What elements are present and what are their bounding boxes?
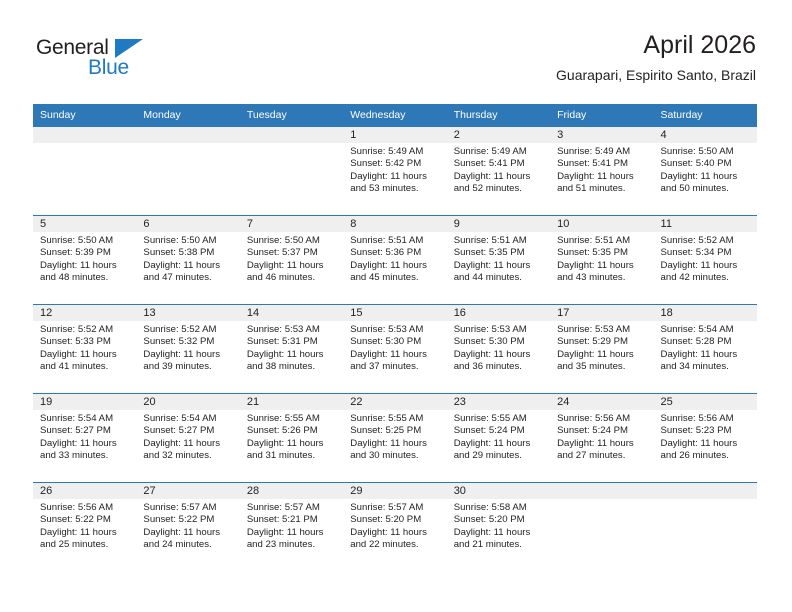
sunset-text: Sunset: 5:26 PM (247, 425, 337, 437)
calendar-day-cell[interactable]: 21Sunrise: 5:55 AMSunset: 5:26 PMDayligh… (240, 394, 343, 483)
calendar-week-row: 5Sunrise: 5:50 AMSunset: 5:39 PMDaylight… (33, 216, 757, 305)
daylight-text-line1: Daylight: 11 hours (454, 171, 544, 183)
weekday-header-wednesday: Wednesday (343, 104, 446, 127)
day-number (550, 483, 653, 499)
sunrise-text: Sunrise: 5:56 AM (557, 413, 647, 425)
daylight-text-line1: Daylight: 11 hours (350, 349, 440, 361)
sunrise-text: Sunrise: 5:56 AM (661, 413, 751, 425)
day-number (136, 127, 239, 143)
daylight-text-line2: and 53 minutes. (350, 183, 440, 195)
sunrise-text: Sunrise: 5:50 AM (661, 146, 751, 158)
sunrise-text: Sunrise: 5:53 AM (247, 324, 337, 336)
calendar-day-cell[interactable]: 20Sunrise: 5:54 AMSunset: 5:27 PMDayligh… (136, 394, 239, 483)
daylight-text-line1: Daylight: 11 hours (661, 260, 751, 272)
calendar-day-cell-empty (550, 483, 653, 572)
calendar-day-cell[interactable]: 12Sunrise: 5:52 AMSunset: 5:33 PMDayligh… (33, 305, 136, 394)
daylight-text-line1: Daylight: 11 hours (40, 527, 130, 539)
day-number: 7 (240, 216, 343, 232)
sunrise-text: Sunrise: 5:49 AM (557, 146, 647, 158)
daylight-text-line1: Daylight: 11 hours (40, 438, 130, 450)
daylight-text-line1: Daylight: 11 hours (350, 438, 440, 450)
day-number: 16 (447, 305, 550, 321)
sunrise-text: Sunrise: 5:52 AM (661, 235, 751, 247)
sunset-text: Sunset: 5:21 PM (247, 514, 337, 526)
sunrise-text: Sunrise: 5:51 AM (350, 235, 440, 247)
daylight-text-line1: Daylight: 11 hours (350, 260, 440, 272)
daylight-text-line1: Daylight: 11 hours (247, 349, 337, 361)
page-header: General Blue April 2026 Guarapari, Espir… (0, 0, 792, 100)
calendar-day-cell[interactable]: 25Sunrise: 5:56 AMSunset: 5:23 PMDayligh… (654, 394, 757, 483)
day-details: Sunrise: 5:50 AMSunset: 5:39 PMDaylight:… (33, 232, 136, 285)
sunset-text: Sunset: 5:39 PM (40, 247, 130, 259)
calendar-day-cell[interactable]: 2Sunrise: 5:49 AMSunset: 5:41 PMDaylight… (447, 127, 550, 216)
calendar-day-cell[interactable]: 8Sunrise: 5:51 AMSunset: 5:36 PMDaylight… (343, 216, 446, 305)
sunrise-text: Sunrise: 5:56 AM (40, 502, 130, 514)
day-number: 24 (550, 394, 653, 410)
daylight-text-line2: and 22 minutes. (350, 539, 440, 551)
day-number: 18 (654, 305, 757, 321)
sunset-text: Sunset: 5:42 PM (350, 158, 440, 170)
sunset-text: Sunset: 5:38 PM (143, 247, 233, 259)
day-details: Sunrise: 5:49 AMSunset: 5:42 PMDaylight:… (343, 143, 446, 196)
day-number: 3 (550, 127, 653, 143)
day-details: Sunrise: 5:51 AMSunset: 5:36 PMDaylight:… (343, 232, 446, 285)
sunset-text: Sunset: 5:27 PM (40, 425, 130, 437)
sunrise-text: Sunrise: 5:49 AM (350, 146, 440, 158)
day-number: 30 (447, 483, 550, 499)
sunrise-text: Sunrise: 5:57 AM (143, 502, 233, 514)
daylight-text-line2: and 23 minutes. (247, 539, 337, 551)
daylight-text-line2: and 51 minutes. (557, 183, 647, 195)
sunrise-text: Sunrise: 5:49 AM (454, 146, 544, 158)
sunrise-text: Sunrise: 5:50 AM (143, 235, 233, 247)
day-details: Sunrise: 5:50 AMSunset: 5:37 PMDaylight:… (240, 232, 343, 285)
day-number: 15 (343, 305, 446, 321)
sunrise-text: Sunrise: 5:52 AM (143, 324, 233, 336)
calendar-day-cell[interactable]: 14Sunrise: 5:53 AMSunset: 5:31 PMDayligh… (240, 305, 343, 394)
calendar-day-cell[interactable]: 7Sunrise: 5:50 AMSunset: 5:37 PMDaylight… (240, 216, 343, 305)
daylight-text-line1: Daylight: 11 hours (454, 438, 544, 450)
sunset-text: Sunset: 5:41 PM (454, 158, 544, 170)
day-number: 2 (447, 127, 550, 143)
daylight-text-line1: Daylight: 11 hours (40, 349, 130, 361)
daylight-text-line2: and 52 minutes. (454, 183, 544, 195)
daylight-text-line2: and 25 minutes. (40, 539, 130, 551)
calendar-day-cell-empty (654, 483, 757, 572)
calendar-day-cell[interactable]: 4Sunrise: 5:50 AMSunset: 5:40 PMDaylight… (654, 127, 757, 216)
calendar-day-cell[interactable]: 9Sunrise: 5:51 AMSunset: 5:35 PMDaylight… (447, 216, 550, 305)
sunrise-text: Sunrise: 5:53 AM (557, 324, 647, 336)
daylight-text-line1: Daylight: 11 hours (143, 438, 233, 450)
day-number: 21 (240, 394, 343, 410)
calendar-week-row: 1Sunrise: 5:49 AMSunset: 5:42 PMDaylight… (33, 127, 757, 216)
sunset-text: Sunset: 5:35 PM (557, 247, 647, 259)
weekday-header-monday: Monday (136, 104, 239, 127)
sunset-text: Sunset: 5:28 PM (661, 336, 751, 348)
day-details: Sunrise: 5:53 AMSunset: 5:31 PMDaylight:… (240, 321, 343, 374)
daylight-text-line1: Daylight: 11 hours (247, 438, 337, 450)
day-number: 19 (33, 394, 136, 410)
daylight-text-line1: Daylight: 11 hours (661, 438, 751, 450)
sunrise-text: Sunrise: 5:55 AM (454, 413, 544, 425)
daylight-text-line2: and 48 minutes. (40, 272, 130, 284)
day-number: 29 (343, 483, 446, 499)
calendar-day-cell-empty (240, 127, 343, 216)
daylight-text-line2: and 38 minutes. (247, 361, 337, 373)
daylight-text-line2: and 27 minutes. (557, 450, 647, 462)
daylight-text-line2: and 34 minutes. (661, 361, 751, 373)
day-number: 14 (240, 305, 343, 321)
sunset-text: Sunset: 5:35 PM (454, 247, 544, 259)
sunrise-text: Sunrise: 5:53 AM (350, 324, 440, 336)
daylight-text-line1: Daylight: 11 hours (143, 260, 233, 272)
calendar-week-row: 26Sunrise: 5:56 AMSunset: 5:22 PMDayligh… (33, 483, 757, 572)
sunset-text: Sunset: 5:22 PM (40, 514, 130, 526)
sunset-text: Sunset: 5:24 PM (454, 425, 544, 437)
day-number: 22 (343, 394, 446, 410)
sunset-text: Sunset: 5:23 PM (661, 425, 751, 437)
day-details: Sunrise: 5:53 AMSunset: 5:30 PMDaylight:… (447, 321, 550, 374)
daylight-text-line1: Daylight: 11 hours (143, 527, 233, 539)
weekday-header-tuesday: Tuesday (240, 104, 343, 127)
day-details: Sunrise: 5:51 AMSunset: 5:35 PMDaylight:… (447, 232, 550, 285)
location-subtitle: Guarapari, Espirito Santo, Brazil (556, 65, 756, 85)
sunrise-text: Sunrise: 5:50 AM (247, 235, 337, 247)
sunset-text: Sunset: 5:29 PM (557, 336, 647, 348)
calendar-day-cell-empty (33, 127, 136, 216)
day-number (240, 127, 343, 143)
calendar-day-cell[interactable]: 19Sunrise: 5:54 AMSunset: 5:27 PMDayligh… (33, 394, 136, 483)
calendar-day-cell[interactable]: 16Sunrise: 5:53 AMSunset: 5:30 PMDayligh… (447, 305, 550, 394)
daylight-text-line1: Daylight: 11 hours (143, 349, 233, 361)
sunrise-text: Sunrise: 5:55 AM (247, 413, 337, 425)
sunrise-text: Sunrise: 5:58 AM (454, 502, 544, 514)
day-details: Sunrise: 5:57 AMSunset: 5:21 PMDaylight:… (240, 499, 343, 552)
calendar-day-cell[interactable]: 5Sunrise: 5:50 AMSunset: 5:39 PMDaylight… (33, 216, 136, 305)
daylight-text-line1: Daylight: 11 hours (557, 260, 647, 272)
sunrise-text: Sunrise: 5:54 AM (143, 413, 233, 425)
day-details: Sunrise: 5:56 AMSunset: 5:22 PMDaylight:… (33, 499, 136, 552)
day-details: Sunrise: 5:56 AMSunset: 5:24 PMDaylight:… (550, 410, 653, 463)
sunset-text: Sunset: 5:30 PM (350, 336, 440, 348)
day-number: 1 (343, 127, 446, 143)
sunrise-text: Sunrise: 5:54 AM (40, 413, 130, 425)
calendar-day-cell[interactable]: 10Sunrise: 5:51 AMSunset: 5:35 PMDayligh… (550, 216, 653, 305)
sunset-text: Sunset: 5:36 PM (350, 247, 440, 259)
sunset-text: Sunset: 5:25 PM (350, 425, 440, 437)
day-number: 26 (33, 483, 136, 499)
sunrise-text: Sunrise: 5:55 AM (350, 413, 440, 425)
calendar-day-cell[interactable]: 29Sunrise: 5:57 AMSunset: 5:20 PMDayligh… (343, 483, 446, 572)
day-details: Sunrise: 5:56 AMSunset: 5:23 PMDaylight:… (654, 410, 757, 463)
day-number: 6 (136, 216, 239, 232)
calendar-header-row: Sunday Monday Tuesday Wednesday Thursday… (33, 104, 757, 127)
day-number: 23 (447, 394, 550, 410)
day-number: 12 (33, 305, 136, 321)
weekday-header-thursday: Thursday (447, 104, 550, 127)
day-number: 27 (136, 483, 239, 499)
daylight-text-line1: Daylight: 11 hours (557, 438, 647, 450)
sunrise-text: Sunrise: 5:57 AM (247, 502, 337, 514)
daylight-text-line1: Daylight: 11 hours (557, 171, 647, 183)
day-details: Sunrise: 5:55 AMSunset: 5:25 PMDaylight:… (343, 410, 446, 463)
calendar-day-cell[interactable]: 15Sunrise: 5:53 AMSunset: 5:30 PMDayligh… (343, 305, 446, 394)
sunset-text: Sunset: 5:31 PM (247, 336, 337, 348)
day-number: 8 (343, 216, 446, 232)
daylight-text-line2: and 46 minutes. (247, 272, 337, 284)
day-details: Sunrise: 5:54 AMSunset: 5:27 PMDaylight:… (33, 410, 136, 463)
day-details: Sunrise: 5:50 AMSunset: 5:40 PMDaylight:… (654, 143, 757, 196)
calendar-day-cell-empty (136, 127, 239, 216)
daylight-text-line1: Daylight: 11 hours (661, 171, 751, 183)
daylight-text-line2: and 21 minutes. (454, 539, 544, 551)
daylight-text-line1: Daylight: 11 hours (247, 527, 337, 539)
sunrise-sunset-calendar: Sunday Monday Tuesday Wednesday Thursday… (33, 104, 757, 571)
calendar-day-cell[interactable]: 17Sunrise: 5:53 AMSunset: 5:29 PMDayligh… (550, 305, 653, 394)
sunset-text: Sunset: 5:37 PM (247, 247, 337, 259)
calendar-day-cell[interactable]: 28Sunrise: 5:57 AMSunset: 5:21 PMDayligh… (240, 483, 343, 572)
daylight-text-line2: and 26 minutes. (661, 450, 751, 462)
sunset-text: Sunset: 5:20 PM (350, 514, 440, 526)
day-details: Sunrise: 5:58 AMSunset: 5:20 PMDaylight:… (447, 499, 550, 552)
sunrise-text: Sunrise: 5:51 AM (557, 235, 647, 247)
daylight-text-line1: Daylight: 11 hours (661, 349, 751, 361)
day-details: Sunrise: 5:49 AMSunset: 5:41 PMDaylight:… (550, 143, 653, 196)
sunset-text: Sunset: 5:40 PM (661, 158, 751, 170)
day-number: 4 (654, 127, 757, 143)
sunset-text: Sunset: 5:22 PM (143, 514, 233, 526)
calendar-day-cell[interactable]: 1Sunrise: 5:49 AMSunset: 5:42 PMDaylight… (343, 127, 446, 216)
calendar-day-cell[interactable]: 6Sunrise: 5:50 AMSunset: 5:38 PMDaylight… (136, 216, 239, 305)
calendar-day-cell[interactable]: 27Sunrise: 5:57 AMSunset: 5:22 PMDayligh… (136, 483, 239, 572)
sunset-text: Sunset: 5:33 PM (40, 336, 130, 348)
calendar-day-cell[interactable]: 3Sunrise: 5:49 AMSunset: 5:41 PMDaylight… (550, 127, 653, 216)
calendar-week-row: 19Sunrise: 5:54 AMSunset: 5:27 PMDayligh… (33, 394, 757, 483)
calendar-page: General Blue April 2026 Guarapari, Espir… (0, 0, 792, 612)
weekday-header-friday: Friday (550, 104, 653, 127)
daylight-text-line2: and 31 minutes. (247, 450, 337, 462)
page-title: April 2026 (556, 30, 756, 60)
sunset-text: Sunset: 5:32 PM (143, 336, 233, 348)
sunrise-text: Sunrise: 5:53 AM (454, 324, 544, 336)
sunset-text: Sunset: 5:41 PM (557, 158, 647, 170)
day-details: Sunrise: 5:54 AMSunset: 5:28 PMDaylight:… (654, 321, 757, 374)
daylight-text-line2: and 32 minutes. (143, 450, 233, 462)
day-details: Sunrise: 5:57 AMSunset: 5:22 PMDaylight:… (136, 499, 239, 552)
calendar-day-cell[interactable]: 13Sunrise: 5:52 AMSunset: 5:32 PMDayligh… (136, 305, 239, 394)
calendar-day-cell[interactable]: 23Sunrise: 5:55 AMSunset: 5:24 PMDayligh… (447, 394, 550, 483)
sunrise-text: Sunrise: 5:50 AM (40, 235, 130, 247)
general-blue-logo[interactable]: General Blue (36, 36, 156, 82)
daylight-text-line2: and 42 minutes. (661, 272, 751, 284)
daylight-text-line1: Daylight: 11 hours (454, 527, 544, 539)
sunrise-text: Sunrise: 5:51 AM (454, 235, 544, 247)
daylight-text-line1: Daylight: 11 hours (350, 527, 440, 539)
daylight-text-line1: Daylight: 11 hours (247, 260, 337, 272)
title-block: April 2026 Guarapari, Espirito Santo, Br… (556, 30, 756, 85)
daylight-text-line1: Daylight: 11 hours (557, 349, 647, 361)
day-details: Sunrise: 5:50 AMSunset: 5:38 PMDaylight:… (136, 232, 239, 285)
daylight-text-line2: and 33 minutes. (40, 450, 130, 462)
logo-text-blue: Blue (88, 56, 129, 80)
day-number: 28 (240, 483, 343, 499)
daylight-text-line2: and 24 minutes. (143, 539, 233, 551)
daylight-text-line2: and 37 minutes. (350, 361, 440, 373)
day-details: Sunrise: 5:57 AMSunset: 5:20 PMDaylight:… (343, 499, 446, 552)
day-number: 20 (136, 394, 239, 410)
day-details: Sunrise: 5:49 AMSunset: 5:41 PMDaylight:… (447, 143, 550, 196)
day-number: 11 (654, 216, 757, 232)
daylight-text-line2: and 30 minutes. (350, 450, 440, 462)
sunset-text: Sunset: 5:24 PM (557, 425, 647, 437)
daylight-text-line2: and 47 minutes. (143, 272, 233, 284)
calendar-day-cell[interactable]: 30Sunrise: 5:58 AMSunset: 5:20 PMDayligh… (447, 483, 550, 572)
daylight-text-line2: and 45 minutes. (350, 272, 440, 284)
daylight-text-line2: and 50 minutes. (661, 183, 751, 195)
day-number: 13 (136, 305, 239, 321)
day-number (33, 127, 136, 143)
daylight-text-line2: and 39 minutes. (143, 361, 233, 373)
daylight-text-line2: and 36 minutes. (454, 361, 544, 373)
calendar-day-cell[interactable]: 24Sunrise: 5:56 AMSunset: 5:24 PMDayligh… (550, 394, 653, 483)
day-details: Sunrise: 5:53 AMSunset: 5:30 PMDaylight:… (343, 321, 446, 374)
calendar-week-row: 12Sunrise: 5:52 AMSunset: 5:33 PMDayligh… (33, 305, 757, 394)
calendar-day-cell[interactable]: 26Sunrise: 5:56 AMSunset: 5:22 PMDayligh… (33, 483, 136, 572)
weekday-header-sunday: Sunday (33, 104, 136, 127)
day-details: Sunrise: 5:53 AMSunset: 5:29 PMDaylight:… (550, 321, 653, 374)
sunset-text: Sunset: 5:20 PM (454, 514, 544, 526)
daylight-text-line1: Daylight: 11 hours (454, 349, 544, 361)
day-details: Sunrise: 5:52 AMSunset: 5:34 PMDaylight:… (654, 232, 757, 285)
sunset-text: Sunset: 5:30 PM (454, 336, 544, 348)
sunrise-text: Sunrise: 5:57 AM (350, 502, 440, 514)
day-details: Sunrise: 5:55 AMSunset: 5:26 PMDaylight:… (240, 410, 343, 463)
daylight-text-line2: and 29 minutes. (454, 450, 544, 462)
day-number: 17 (550, 305, 653, 321)
day-details: Sunrise: 5:55 AMSunset: 5:24 PMDaylight:… (447, 410, 550, 463)
daylight-text-line2: and 43 minutes. (557, 272, 647, 284)
daylight-text-line2: and 41 minutes. (40, 361, 130, 373)
daylight-text-line2: and 44 minutes. (454, 272, 544, 284)
sunset-text: Sunset: 5:27 PM (143, 425, 233, 437)
sunset-text: Sunset: 5:34 PM (661, 247, 751, 259)
daylight-text-line1: Daylight: 11 hours (40, 260, 130, 272)
day-number: 25 (654, 394, 757, 410)
daylight-text-line1: Daylight: 11 hours (454, 260, 544, 272)
calendar-body: 1Sunrise: 5:49 AMSunset: 5:42 PMDaylight… (33, 127, 757, 572)
daylight-text-line2: and 35 minutes. (557, 361, 647, 373)
sunrise-text: Sunrise: 5:52 AM (40, 324, 130, 336)
day-number (654, 483, 757, 499)
calendar-day-cell[interactable]: 18Sunrise: 5:54 AMSunset: 5:28 PMDayligh… (654, 305, 757, 394)
calendar-day-cell[interactable]: 22Sunrise: 5:55 AMSunset: 5:25 PMDayligh… (343, 394, 446, 483)
day-details: Sunrise: 5:52 AMSunset: 5:32 PMDaylight:… (136, 321, 239, 374)
calendar-day-cell[interactable]: 11Sunrise: 5:52 AMSunset: 5:34 PMDayligh… (654, 216, 757, 305)
daylight-text-line1: Daylight: 11 hours (350, 171, 440, 183)
sunrise-text: Sunrise: 5:54 AM (661, 324, 751, 336)
weekday-header-saturday: Saturday (654, 104, 757, 127)
day-number: 5 (33, 216, 136, 232)
day-number: 9 (447, 216, 550, 232)
day-details: Sunrise: 5:54 AMSunset: 5:27 PMDaylight:… (136, 410, 239, 463)
day-number: 10 (550, 216, 653, 232)
day-details: Sunrise: 5:52 AMSunset: 5:33 PMDaylight:… (33, 321, 136, 374)
day-details: Sunrise: 5:51 AMSunset: 5:35 PMDaylight:… (550, 232, 653, 285)
